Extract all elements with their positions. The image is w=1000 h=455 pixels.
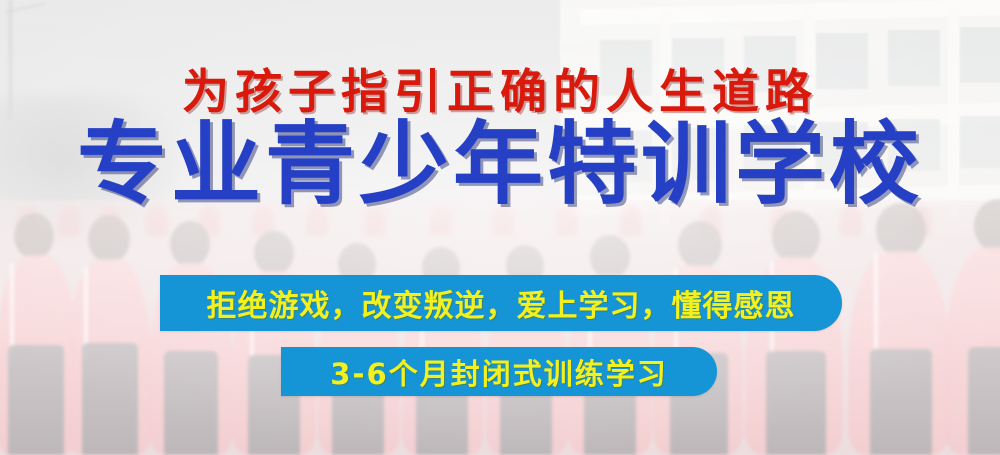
feature-ribbon-secondary: 3-6个月封闭式训练学习	[281, 347, 717, 396]
banner-title: 专业青少年特训学校	[0, 118, 1000, 213]
feature-ribbon-secondary-label: 3-6个月封闭式训练学习	[330, 351, 667, 393]
banner-content: 为孩子指引正确的人生道路 专业青少年特训学校 拒绝游戏，改变叛逆，爱上学习，懂得…	[0, 0, 1000, 455]
promo-banner: 为孩子指引正确的人生道路 专业青少年特训学校 拒绝游戏，改变叛逆，爱上学习，懂得…	[0, 0, 1000, 455]
feature-ribbon-primary: 拒绝游戏，改变叛逆，爱上学习，懂得感恩	[160, 275, 842, 331]
feature-ribbon-primary-label: 拒绝游戏，改变叛逆，爱上学习，懂得感恩	[207, 281, 796, 325]
